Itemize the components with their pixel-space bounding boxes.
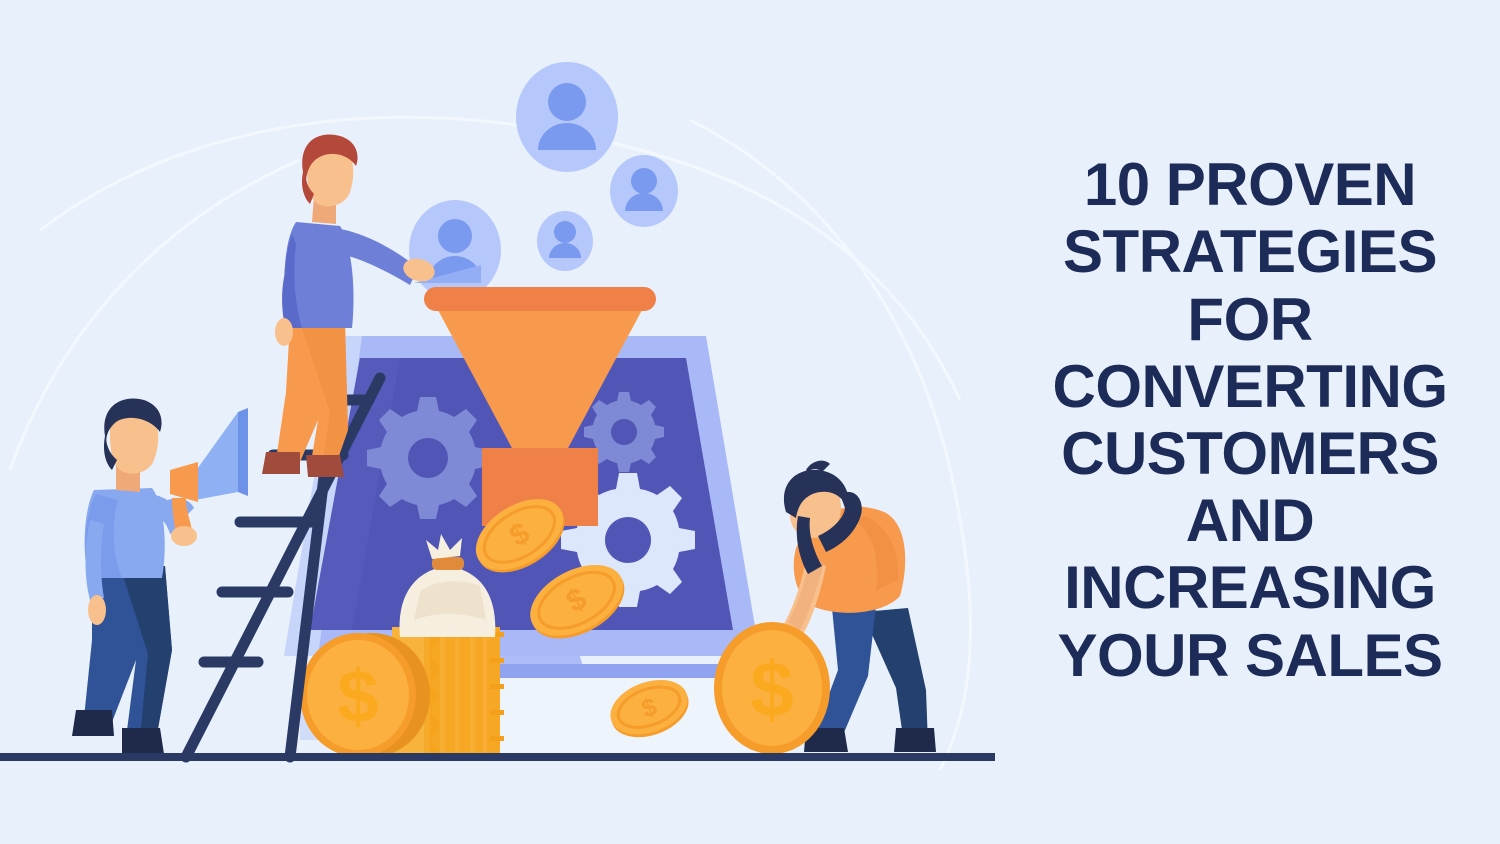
megaphone-person-shoe: [72, 710, 114, 736]
megaphone-person-shoe: [122, 728, 164, 754]
megaphone-person-hand: [88, 595, 106, 625]
illustration-svg: $ $ $: [0, 0, 1010, 844]
avatar-bubble-large: [516, 62, 618, 172]
headline-container: 10 PROVEN STRATEGIES FOR CONVERTING CUST…: [1000, 0, 1500, 844]
ladder-person-shoe: [306, 455, 344, 477]
sales-funnel-illustration: $ $ $: [0, 0, 1010, 844]
avatar-bubble-medium: [409, 200, 501, 300]
page-title: 10 PROVEN STRATEGIES FOR CONVERTING CUST…: [1015, 151, 1485, 693]
ground-line: [0, 753, 995, 761]
ladder-person-back-hand: [275, 318, 293, 346]
coin-large-front: $: [300, 633, 430, 757]
banner-root: $ $ $: [0, 0, 1500, 844]
svg-text:$: $: [337, 655, 378, 738]
avatar-bubble-small: [610, 155, 678, 227]
coin-pushed: $: [714, 622, 830, 754]
coin-person-shoe: [894, 728, 936, 752]
gear-medium-dark: [367, 397, 489, 519]
funnel-rim: [424, 287, 656, 311]
avatar-bubble-tiny: [537, 211, 593, 271]
svg-text:$: $: [750, 645, 793, 733]
ladder-person-shoe: [262, 452, 300, 474]
